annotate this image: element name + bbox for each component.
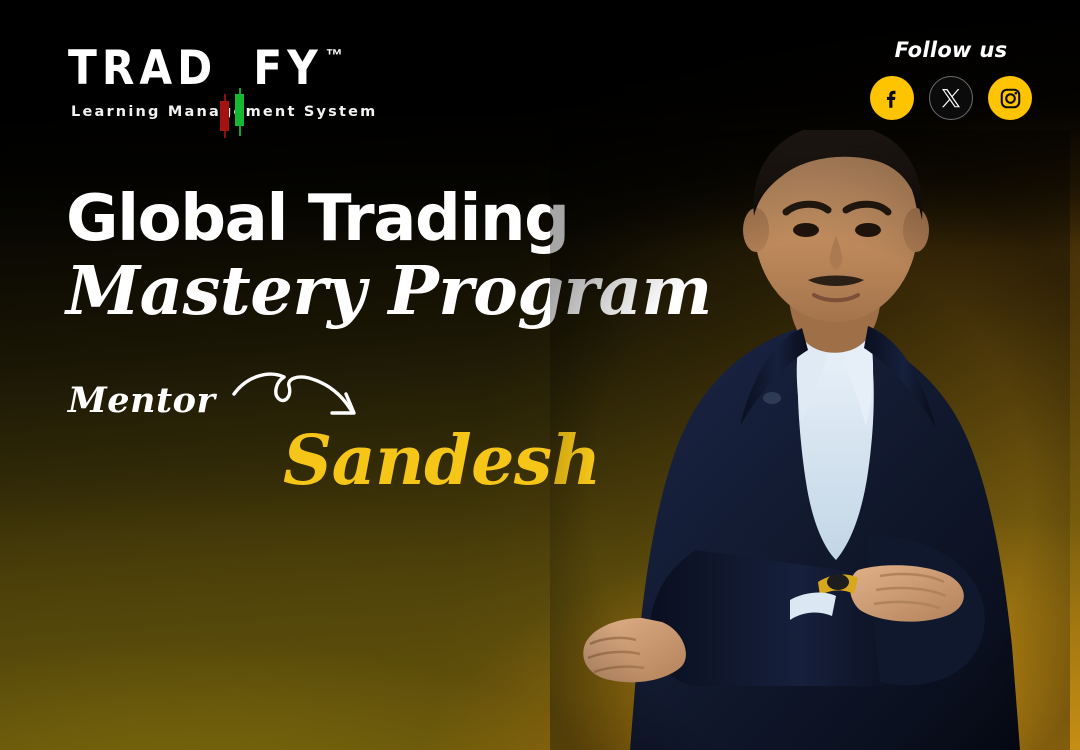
- x-twitter-link[interactable]: [929, 76, 973, 120]
- candle-red-body: [220, 101, 229, 131]
- headline: Global Trading Mastery Program: [66, 188, 712, 326]
- follow-us-block: Follow us: [870, 38, 1032, 120]
- facebook-icon: [879, 85, 905, 111]
- mentor-label: Mentor: [68, 380, 215, 421]
- candle-green-body: [235, 94, 244, 126]
- trademark-symbol: ™: [326, 47, 343, 64]
- mentor-name: Sandesh: [283, 427, 601, 495]
- promo-banner: TRAD FY ™ Learning Management System Fol…: [0, 0, 1080, 750]
- brand-logo[interactable]: TRAD FY ™ Learning Management System: [68, 45, 377, 120]
- curved-arrow-icon: [229, 366, 369, 429]
- x-icon: [940, 87, 962, 109]
- headline-line-2: Mastery Program: [66, 255, 712, 326]
- social-links: [870, 76, 1032, 120]
- candlestick-icon: [219, 45, 249, 92]
- logo-wordmark: TRAD FY ™: [68, 45, 377, 92]
- follow-us-label: Follow us: [870, 38, 1032, 62]
- instagram-icon: [998, 86, 1023, 111]
- facebook-link[interactable]: [870, 76, 914, 120]
- headline-line-1: Global Trading: [66, 188, 712, 251]
- instagram-link[interactable]: [988, 76, 1032, 120]
- logo-text-post: FY: [253, 45, 323, 92]
- logo-text-pre: TRAD: [68, 45, 217, 92]
